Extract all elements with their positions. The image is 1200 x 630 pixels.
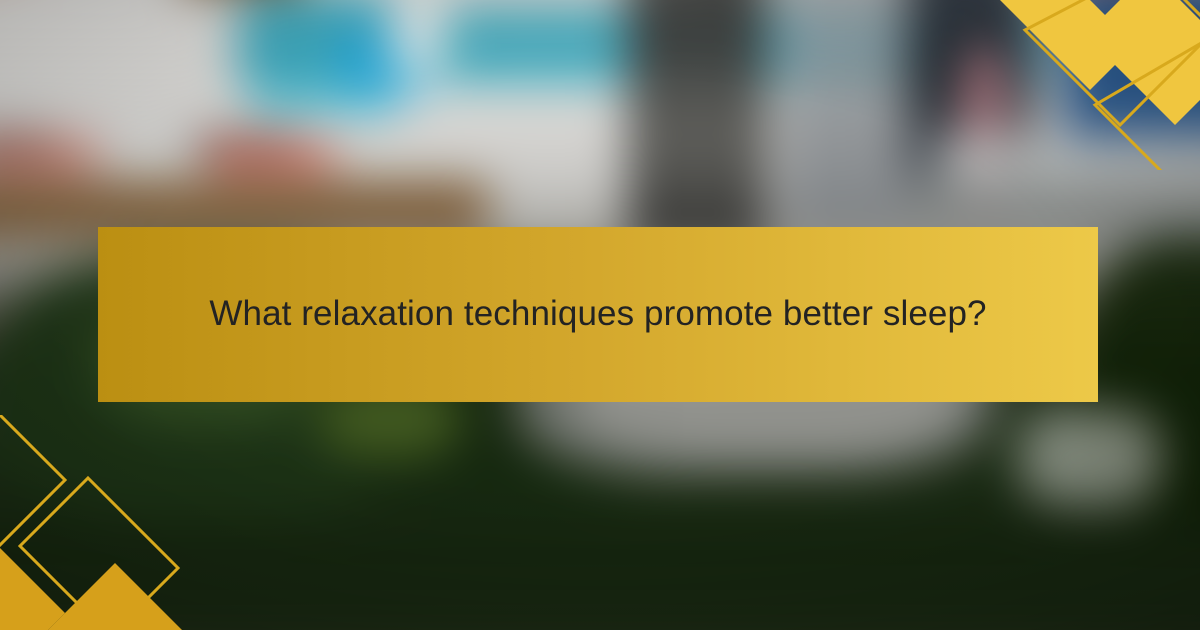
question-banner: What relaxation techniques promote bette… [98, 227, 1098, 402]
bg-blob-shelf-unit-2 [782, 0, 908, 236]
bg-blob-red-label-2 [208, 140, 334, 172]
question-card: What relaxation techniques promote bette… [0, 0, 1200, 630]
bg-blob-shelf-unit-1 [628, 0, 768, 251]
bg-blob-stone-2 [1020, 410, 1160, 505]
bg-blob-white-bottle [390, 0, 446, 77]
bg-blob-red-label-1 [0, 140, 96, 172]
question-text: What relaxation techniques promote bette… [156, 287, 1040, 341]
